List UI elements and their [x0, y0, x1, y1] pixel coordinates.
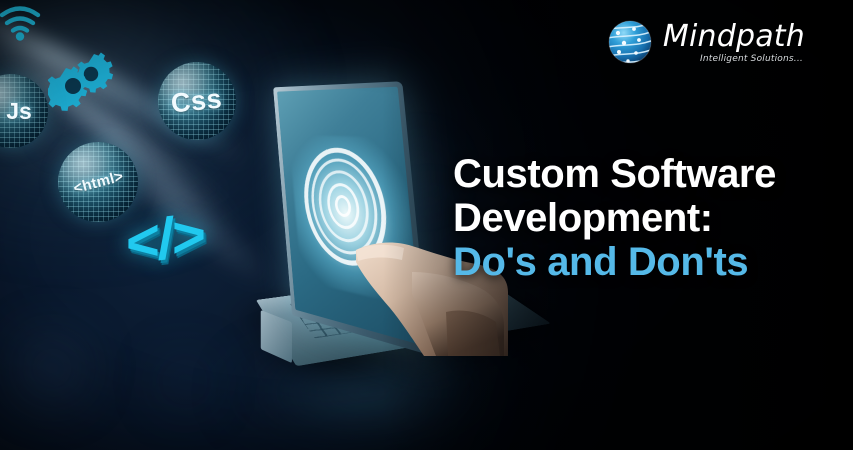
network-sphere-icon — [606, 18, 654, 66]
headline-line-3: Do's and Don'ts — [453, 240, 845, 284]
brand-logo-text: Mindpath Intelligent Solutions... — [663, 21, 805, 64]
tech-sphere-css-label: Css — [170, 83, 224, 119]
brand-logo[interactable]: Mindpath Intelligent Solutions... — [606, 18, 805, 66]
brand-wordmark: Mindpath — [663, 21, 805, 53]
brand-tagline: Intelligent Solutions... — [700, 54, 803, 64]
headline-block: Custom Software Development: Do's and Do… — [453, 152, 845, 284]
headline-line-1: Custom Software — [453, 152, 845, 196]
promo-banner: Js Css <html> </> — [0, 0, 853, 450]
headline-line-2: Development: — [453, 196, 845, 240]
tech-sphere-js-label: Js — [6, 98, 32, 125]
